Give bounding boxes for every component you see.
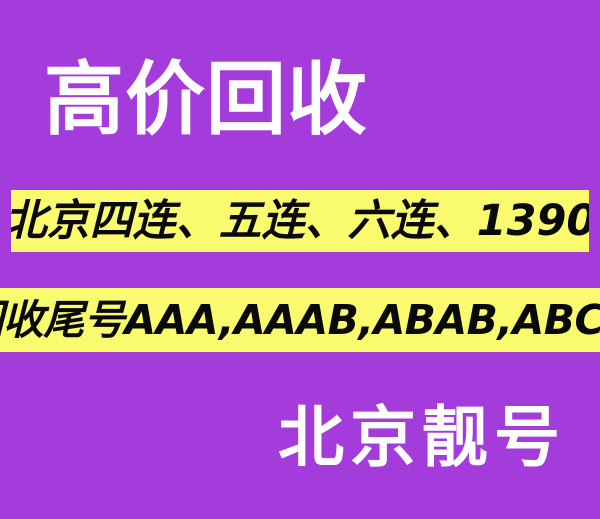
highlight-banner-secondary: 回收尾号AAA,AAAB,ABAB,ABCD — [0, 288, 600, 352]
poster-tagline: 北京靓号 — [278, 392, 566, 484]
highlight-banner-primary-text: 北京四连、五连、六连、1390 — [11, 200, 589, 243]
highlight-banner-primary: 北京四连、五连、六连、1390 — [11, 190, 589, 252]
poster-headline: 高价回收 — [44, 50, 564, 150]
promo-poster: 高价回收 北京四连、五连、六连、1390 回收尾号AAA,AAAB,ABAB,A… — [0, 0, 600, 519]
highlight-banner-secondary-text: 回收尾号AAA,AAAB,ABAB,ABCD — [0, 300, 600, 341]
